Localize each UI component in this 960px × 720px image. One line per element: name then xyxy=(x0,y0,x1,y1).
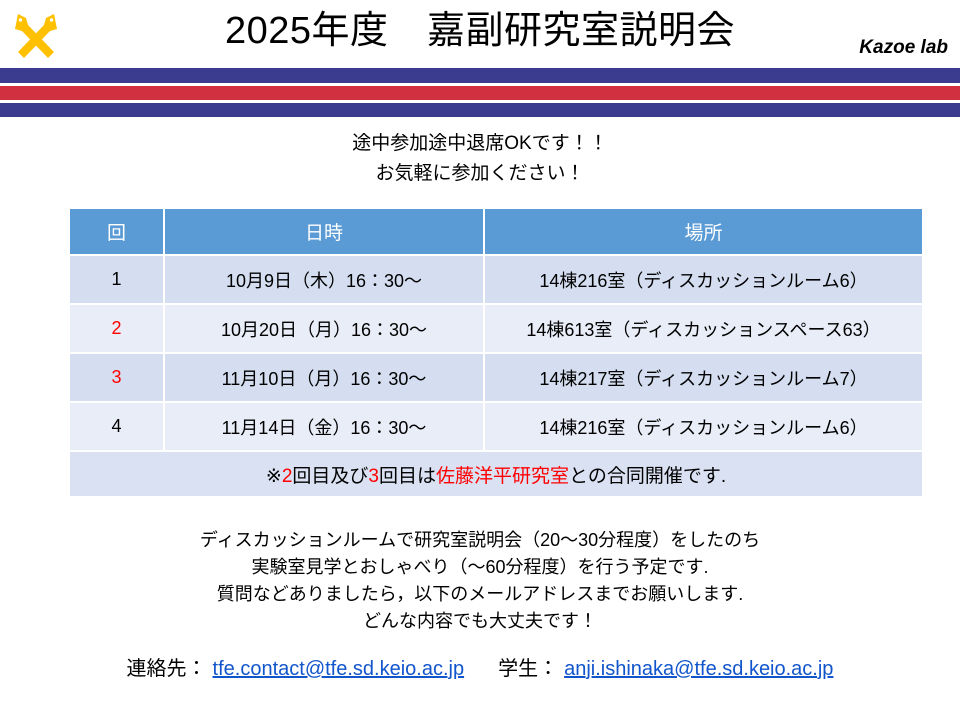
column-header-when: 日時 xyxy=(165,209,483,254)
description-line-1: ディスカッションルームで研究室説明会（20～30分程度）をしたのち xyxy=(0,527,960,554)
lab-name: Kazoe lab xyxy=(859,36,948,60)
intro-line-2: お気軽に参加ください！ xyxy=(0,159,960,189)
cell-place: 14棟216室（ディスカッションルーム6） xyxy=(485,403,922,450)
cell-place: 14棟216室（ディスカッションルーム6） xyxy=(485,256,922,303)
note-red-lab: 佐藤洋平研究室 xyxy=(436,466,569,487)
cell-datetime: 11月10日（月）16：30～ xyxy=(165,354,483,401)
joint-session-note: ※2回目及び3回目は佐藤洋平研究室との合同開催です. xyxy=(70,452,922,496)
contact-primary-label: 連絡先： xyxy=(127,655,207,683)
description-text: ディスカッションルームで研究室説明会（20～30分程度）をしたのち 実験室見学と… xyxy=(0,527,960,635)
note-mid-2: 回目は xyxy=(379,466,436,487)
contact-student: 学生： anji.ishinaka@tfe.sd.keio.ac.jp xyxy=(498,655,833,683)
page-header: 2025年度 嘉副研究室説明会 Kazoe lab xyxy=(0,0,960,68)
cell-session-no: 3 xyxy=(70,354,163,401)
contact-student-email-link[interactable]: anji.ishinaka@tfe.sd.keio.ac.jp xyxy=(564,655,833,683)
contact-primary-email-link[interactable]: tfe.contact@tfe.sd.keio.ac.jp xyxy=(213,655,465,683)
cell-datetime: 10月9日（木）16：30～ xyxy=(165,256,483,303)
stripe-purple-bottom xyxy=(0,103,960,117)
cell-session-no: 2 xyxy=(70,305,163,352)
table-header-row: 回 日時 場所 xyxy=(70,209,922,254)
cell-place: 14棟217室（ディスカッションルーム7） xyxy=(485,354,922,401)
cell-datetime: 11月14日（金）16：30～ xyxy=(165,403,483,450)
cell-session-no: 1 xyxy=(70,256,163,303)
table-row: 2 10月20日（月）16：30～ 14棟613室（ディスカッションスペース63… xyxy=(70,305,922,352)
description-line-4: どんな内容でも大丈夫です！ xyxy=(0,608,960,635)
note-prefix: ※ xyxy=(266,466,282,487)
decorative-stripe-band xyxy=(0,68,960,117)
table-row: 3 11月10日（月）16：30～ 14棟217室（ディスカッションルーム7） xyxy=(70,354,922,401)
page-title: 2025年度 嘉副研究室説明会 xyxy=(0,2,960,60)
cell-session-no: 4 xyxy=(70,403,163,450)
column-header-no: 回 xyxy=(70,209,163,254)
description-line-2: 実験室見学とおしゃべり（～60分程度）を行う予定です. xyxy=(0,554,960,581)
cell-datetime: 10月20日（月）16：30～ xyxy=(165,305,483,352)
schedule-table-wrapper: 回 日時 場所 1 10月9日（木）16：30～ 14棟216室（ディスカッショ… xyxy=(68,207,920,498)
schedule-table: 回 日時 場所 1 10月9日（木）16：30～ 14棟216室（ディスカッショ… xyxy=(68,207,924,498)
contact-primary: 連絡先： tfe.contact@tfe.sd.keio.ac.jp xyxy=(127,655,465,683)
table-note-row: ※2回目及び3回目は佐藤洋平研究室との合同開催です. xyxy=(70,452,922,496)
description-line-3: 質問などありましたら，以下のメールアドレスまでお願いします. xyxy=(0,581,960,608)
table-row: 1 10月9日（木）16：30～ 14棟216室（ディスカッションルーム6） xyxy=(70,256,922,303)
cell-place: 14棟613室（ディスカッションスペース63） xyxy=(485,305,922,352)
note-red-3: 3 xyxy=(368,466,379,487)
note-mid-1: 回目及び xyxy=(292,466,368,487)
note-red-2: 2 xyxy=(282,466,293,487)
contact-section: 連絡先： tfe.contact@tfe.sd.keio.ac.jp 学生： a… xyxy=(0,655,960,683)
contact-student-label: 学生： xyxy=(498,655,558,683)
intro-text: 途中参加途中退席OKです！！ お気軽に参加ください！ xyxy=(0,129,960,189)
intro-line-1: 途中参加途中退席OKです！！ xyxy=(0,129,960,159)
stripe-purple-top xyxy=(0,68,960,83)
table-row: 4 11月14日（金）16：30～ 14棟216室（ディスカッションルーム6） xyxy=(70,403,922,450)
column-header-where: 場所 xyxy=(485,209,922,254)
stripe-red xyxy=(0,86,960,100)
note-suffix: との合同開催です. xyxy=(569,466,726,487)
